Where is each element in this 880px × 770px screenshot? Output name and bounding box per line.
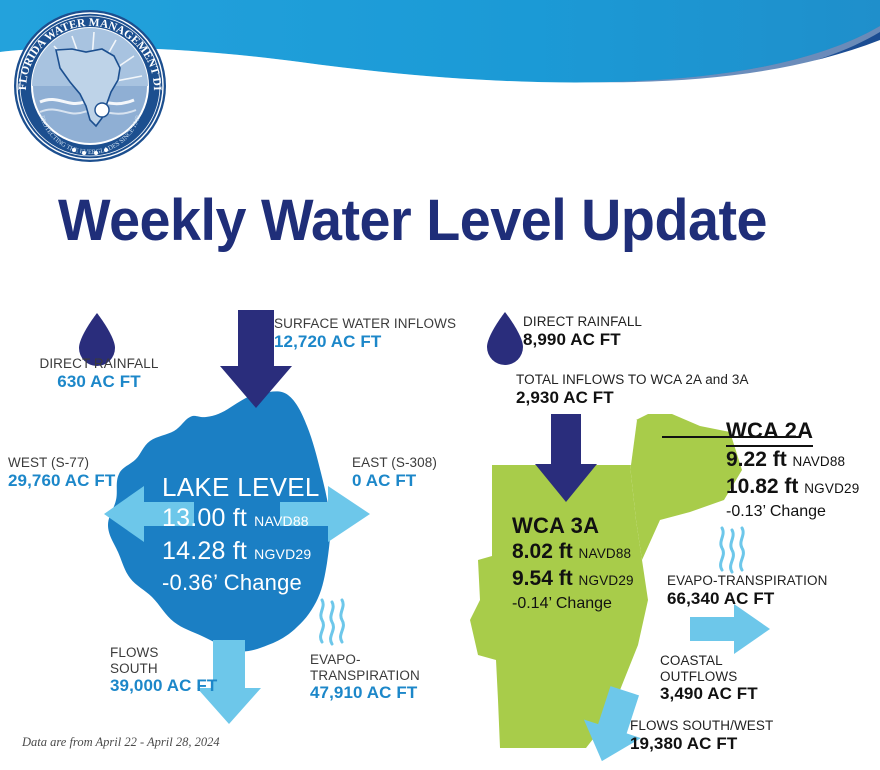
west-s77-value: 29,760 AC FT	[8, 471, 158, 491]
lake-level-ngvd29-row: 14.28 ft NGVD29	[162, 536, 422, 569]
east-s308-caption: EAST (S-308)	[352, 455, 482, 471]
label-surface-water-inflows: SURFACE WATER INFLOWS 12,720 AC FT	[274, 316, 474, 352]
wca-divider-line	[630, 420, 636, 465]
wca-2a-navd88-value: 9.22 ft	[726, 448, 787, 471]
flows-south-west-value: 19,380 AC FT	[630, 734, 860, 754]
label-direct-rainfall-lake: DIRECT RAINFALL 630 AC FT	[24, 356, 174, 392]
lake-level-change: -0.36’ Change	[162, 569, 422, 597]
wca-3a-ngvd29-value: 9.54 ft	[512, 567, 573, 590]
wca-2a-change: -0.13’ Change	[726, 501, 880, 523]
wca-2a-readout: WCA 2A 9.22 ft NAVD88 10.82 ft NGVD29 -0…	[726, 418, 880, 523]
evaporation-waves-lake-icon	[321, 600, 344, 644]
label-west-s77: WEST (S-77) 29,760 AC FT	[8, 455, 158, 491]
label-evapotranspiration-lake: EVAPO- TRANSPIRATION 47,910 AC FT	[310, 652, 490, 703]
evapotranspiration-lake-caption: EVAPO- TRANSPIRATION	[310, 652, 490, 683]
wca-3a-title: WCA 3A	[512, 513, 692, 539]
evapotranspiration-wca-value: 66,340 AC FT	[667, 589, 880, 609]
wca-2a-ngvd29-datum: NGVD29	[804, 481, 859, 496]
label-coastal-outflows: COASTAL OUTFLOWS 3,490 AC FT	[660, 653, 840, 704]
lake-level-navd88-datum: NAVD88	[254, 513, 309, 529]
wca-3a-navd88-row: 8.02 ft NAVD88	[512, 539, 692, 566]
wca-3a-navd88-value: 8.02 ft	[512, 540, 573, 563]
wca-2a-navd88-row: 9.22 ft NAVD88	[726, 447, 880, 474]
label-total-inflows-wca: TOTAL INFLOWS TO WCA 2A and 3A 2,930 AC …	[516, 372, 816, 408]
evaporation-waves-wca-icon	[721, 528, 744, 572]
sfwmd-seal-icon: SOUTH FLORIDA WATER MANAGEMENT DISTRICT …	[10, 6, 170, 166]
water-droplet-wca-icon	[487, 312, 523, 365]
west-s77-caption: WEST (S-77)	[8, 455, 158, 471]
wca-3a-navd88-datum: NAVD88	[579, 546, 632, 561]
page-title: Weekly Water Level Update	[58, 190, 826, 252]
label-direct-rainfall-wca: DIRECT RAINFALL 8,990 AC FT	[523, 314, 743, 350]
direct-rainfall-lake-caption: DIRECT RAINFALL	[24, 356, 174, 372]
wca-2a-ngvd29-row: 10.82 ft NGVD29	[726, 474, 880, 501]
surface-water-inflows-value: 12,720 AC FT	[274, 332, 474, 352]
flows-south-west-caption: FLOWS SOUTH/WEST	[630, 718, 860, 734]
wca-3a-readout: WCA 3A 8.02 ft NAVD88 9.54 ft NGVD29 -0.…	[512, 513, 692, 615]
total-inflows-wca-value: 2,930 AC FT	[516, 388, 816, 408]
infographic-canvas: SOUTH FLORIDA WATER MANAGEMENT DISTRICT …	[0, 0, 880, 770]
wca-2a-navd88-datum: NAVD88	[793, 454, 846, 469]
coastal-outflows-caption: COASTAL OUTFLOWS	[660, 653, 840, 684]
evapotranspiration-wca-caption: EVAPO-TRANSPIRATION	[667, 573, 880, 589]
wca-2a-title: WCA 2A	[726, 418, 813, 447]
arrow-total-inflows-wca-icon	[535, 414, 597, 502]
label-evapotranspiration-wca: EVAPO-TRANSPIRATION 66,340 AC FT	[667, 573, 880, 609]
total-inflows-wca-caption: TOTAL INFLOWS TO WCA 2A and 3A	[516, 372, 816, 388]
coastal-outflows-value: 3,490 AC FT	[660, 684, 840, 704]
wca-2a-ngvd29-value: 10.82 ft	[726, 475, 798, 498]
label-flows-south-west: FLOWS SOUTH/WEST 19,380 AC FT	[630, 718, 860, 754]
lake-level-navd88-value: 13.00 ft	[162, 504, 247, 532]
surface-water-inflows-caption: SURFACE WATER INFLOWS	[274, 316, 474, 332]
label-flows-south: FLOWS SOUTH 39,000 AC FT	[110, 645, 270, 696]
direct-rainfall-wca-caption: DIRECT RAINFALL	[523, 314, 743, 330]
evapotranspiration-lake-value: 47,910 AC FT	[310, 683, 490, 703]
data-period-footnote: Data are from April 22 - April 28, 2024	[22, 735, 220, 750]
flows-south-value: 39,000 AC FT	[110, 676, 270, 696]
wca-3a-ngvd29-row: 9.54 ft NGVD29	[512, 566, 692, 593]
lake-level-ngvd29-value: 14.28 ft	[162, 537, 247, 565]
wca-3a-change: -0.14’ Change	[512, 593, 692, 615]
lake-level-ngvd29-datum: NGVD29	[254, 546, 311, 562]
direct-rainfall-lake-value: 630 AC FT	[24, 372, 174, 392]
wca-3a-ngvd29-datum: NGVD29	[579, 573, 634, 588]
arrow-coastal-outflows-icon	[690, 604, 770, 654]
flows-south-caption: FLOWS SOUTH	[110, 645, 270, 676]
sfwmd-logo: SOUTH FLORIDA WATER MANAGEMENT DISTRICT …	[10, 6, 170, 166]
lake-level-title: LAKE LEVEL	[162, 472, 422, 503]
lake-level-readout: LAKE LEVEL 13.00 ft NAVD88 14.28 ft NGVD…	[162, 472, 422, 597]
direct-rainfall-wca-value: 8,990 AC FT	[523, 330, 743, 350]
lake-level-navd88-row: 13.00 ft NAVD88	[162, 503, 422, 536]
